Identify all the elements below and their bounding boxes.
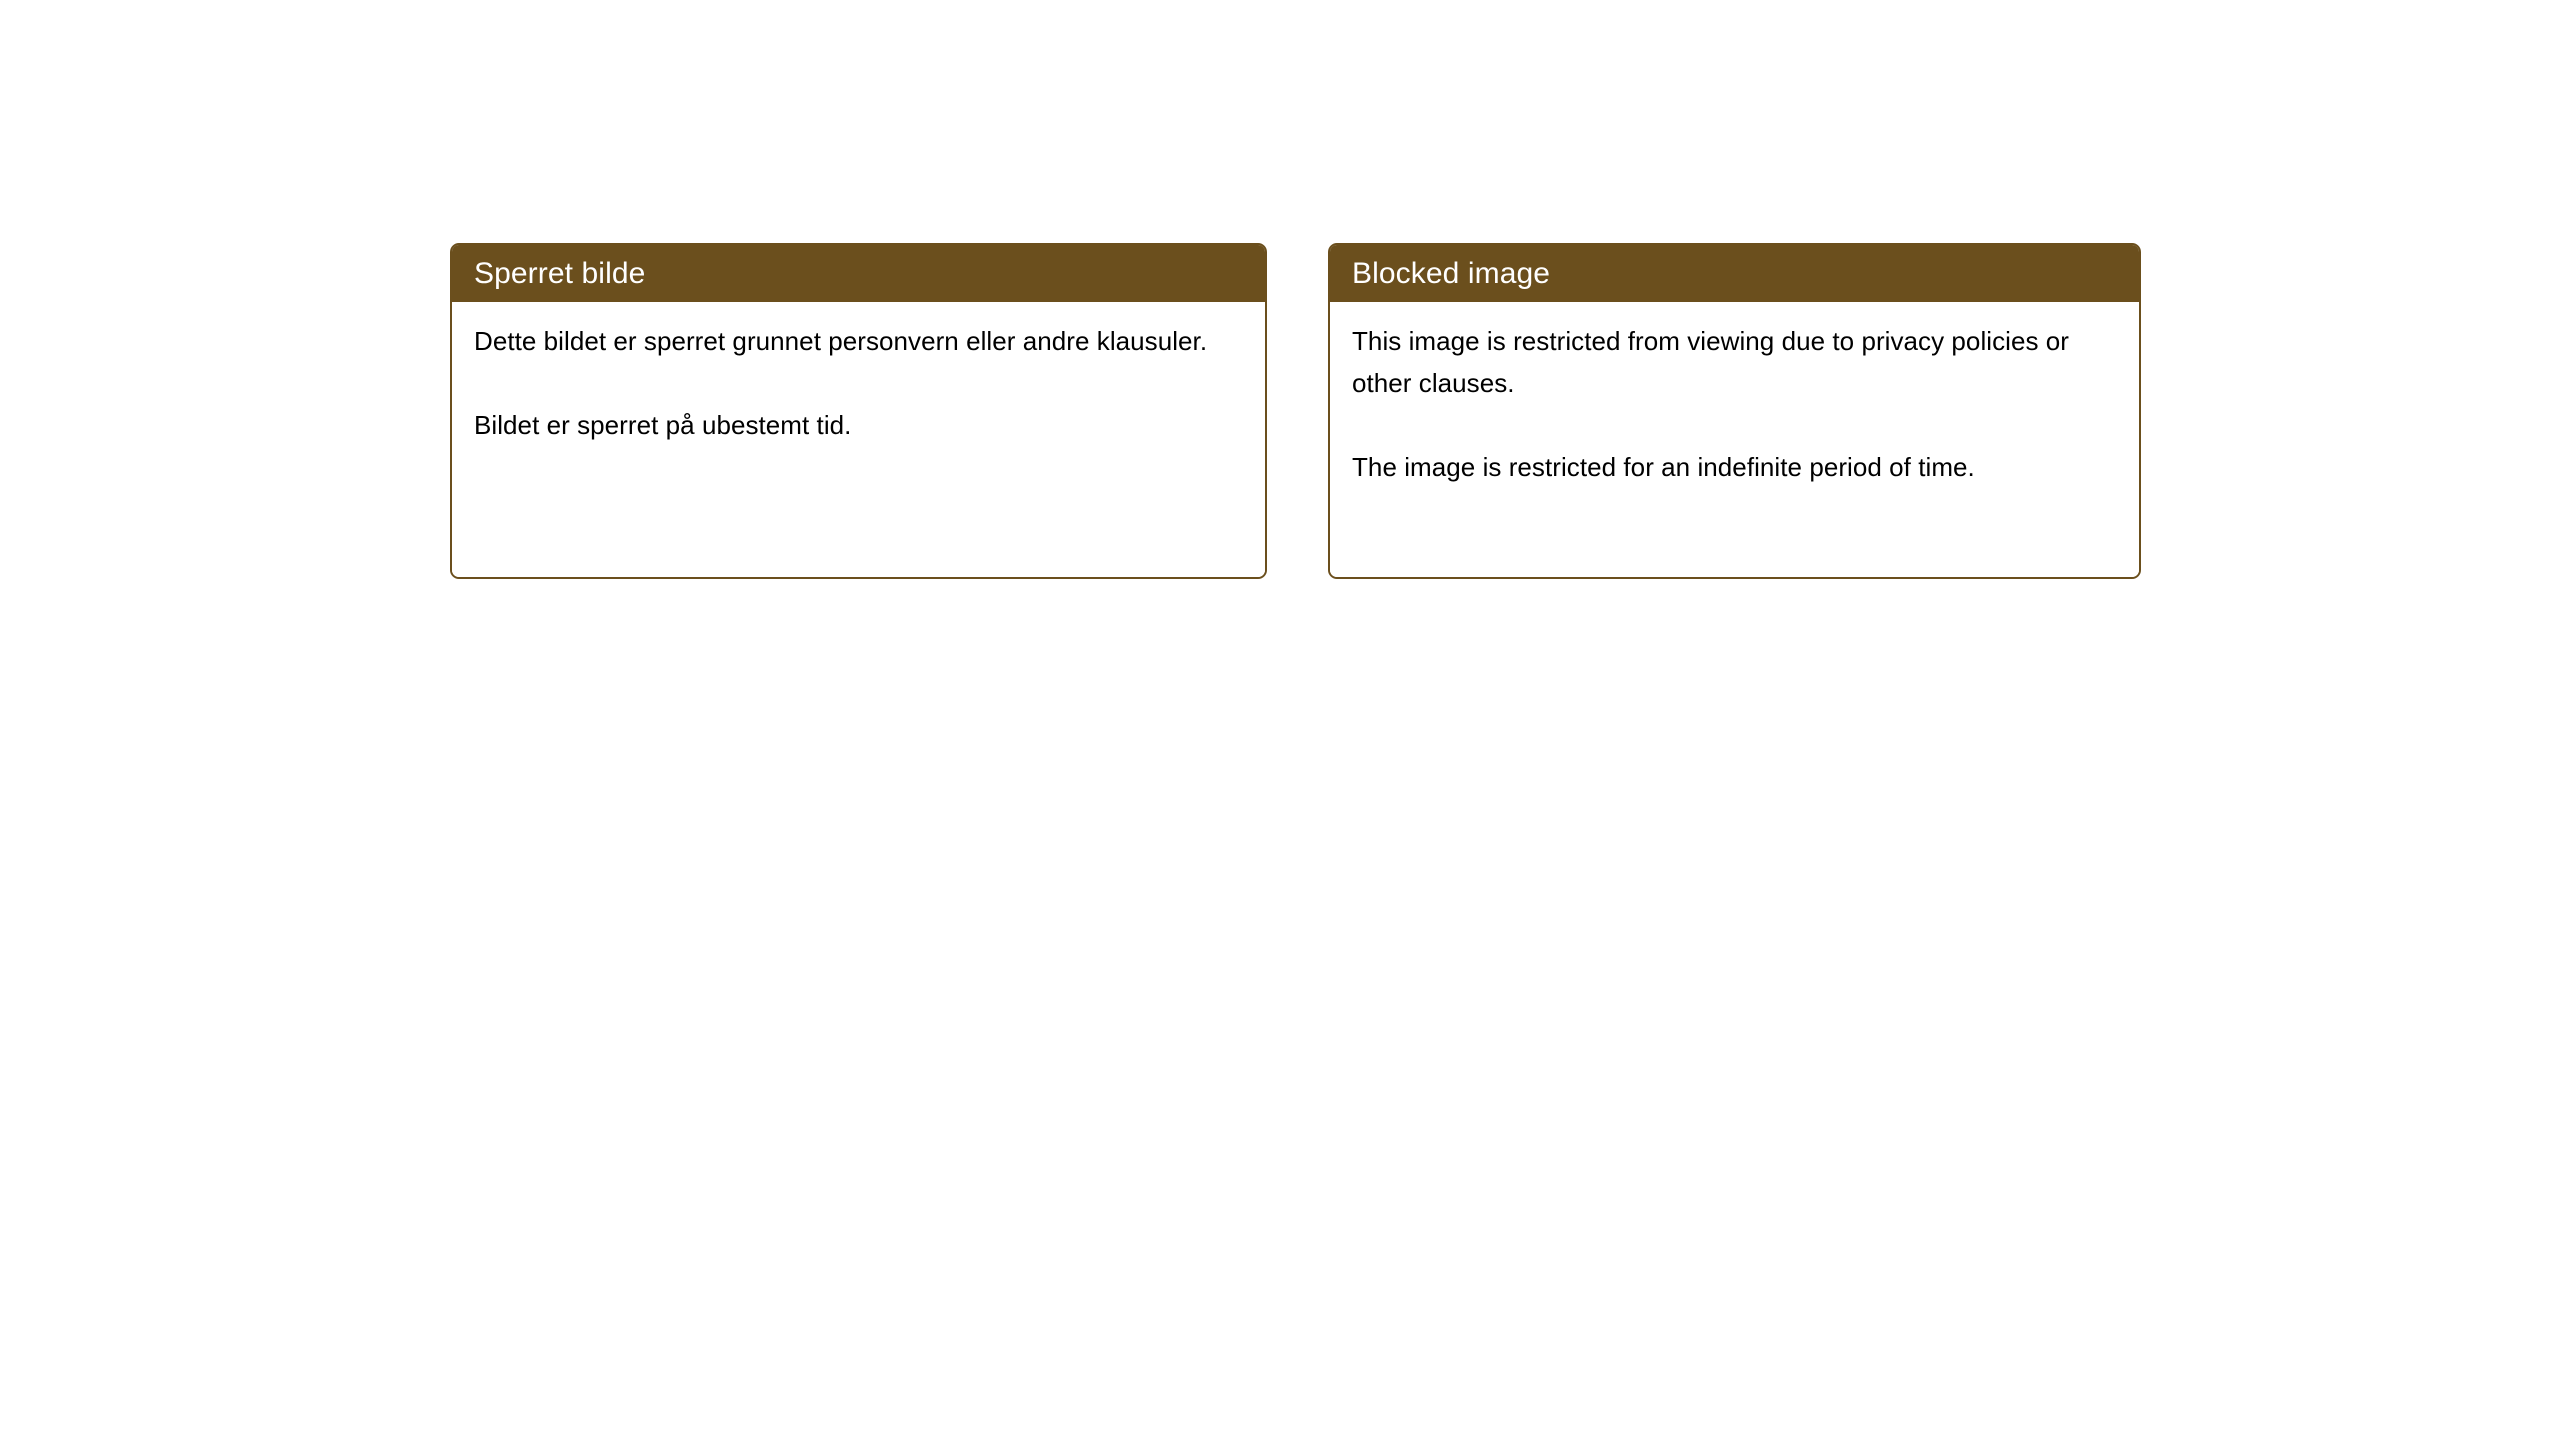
notice-header-english: Blocked image [1330,245,2139,302]
notice-paragraph: This image is restricted from viewing du… [1352,320,2119,404]
notice-header-norwegian: Sperret bilde [452,245,1265,302]
notice-paragraph: Dette bildet er sperret grunnet personve… [474,320,1245,362]
notice-paragraph: Bildet er sperret på ubestemt tid. [474,404,1245,446]
notice-body-english: This image is restricted from viewing du… [1330,302,2139,577]
notice-title-english: Blocked image [1352,257,1550,291]
notice-body-norwegian: Dette bildet er sperret grunnet personve… [452,302,1265,577]
notice-title-norwegian: Sperret bilde [474,257,645,291]
blocked-image-notice-area: Sperret bilde Dette bildet er sperret gr… [450,243,2141,579]
blocked-image-notice-norwegian: Sperret bilde Dette bildet er sperret gr… [450,243,1267,579]
notice-paragraph: The image is restricted for an indefinit… [1352,446,2119,488]
blocked-image-notice-english: Blocked image This image is restricted f… [1328,243,2141,579]
